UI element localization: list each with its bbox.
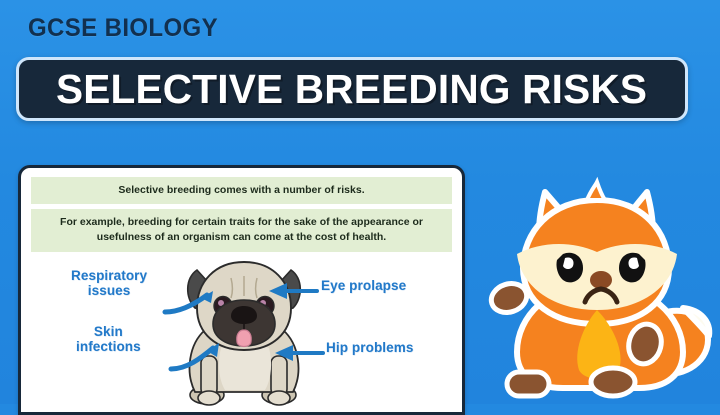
label-skin-line1: Skin	[76, 324, 141, 340]
content-card: Selective breeding comes with a number o…	[18, 165, 465, 415]
label-respiratory-line1: Respiratory	[71, 268, 147, 284]
fox-mascot-icon	[487, 176, 715, 404]
label-skin-infections: Skin infections	[76, 324, 141, 355]
arrow-to-hip-icon	[273, 342, 327, 364]
subject-eyebrow: GCSE BIOLOGY	[28, 14, 218, 43]
label-respiratory-issues: Respiratory issues	[71, 268, 147, 299]
arrow-to-eye-icon	[267, 280, 321, 302]
page-title: SELECTIVE BREEDING RISKS	[56, 66, 647, 113]
label-skin-line2: infections	[76, 339, 141, 355]
label-hip-problems: Hip problems	[326, 340, 413, 356]
pug-illustration	[161, 252, 331, 412]
title-bar: SELECTIVE BREEDING RISKS	[16, 57, 688, 121]
label-eye-prolapse: Eye prolapse	[321, 278, 406, 294]
label-respiratory-line2: issues	[71, 283, 147, 299]
arrow-to-skin-icon	[167, 340, 227, 374]
statement-box-1: Selective breeding comes with a number o…	[31, 177, 452, 204]
arrow-to-respiratory-icon	[161, 288, 221, 318]
statement-box-2: For example, breeding for certain traits…	[31, 209, 452, 251]
pug-diagram: Respiratory issues Skin infections Eye p…	[21, 252, 462, 412]
slide-background: GCSE BIOLOGY SELECTIVE BREEDING RISKS Se…	[0, 0, 720, 404]
